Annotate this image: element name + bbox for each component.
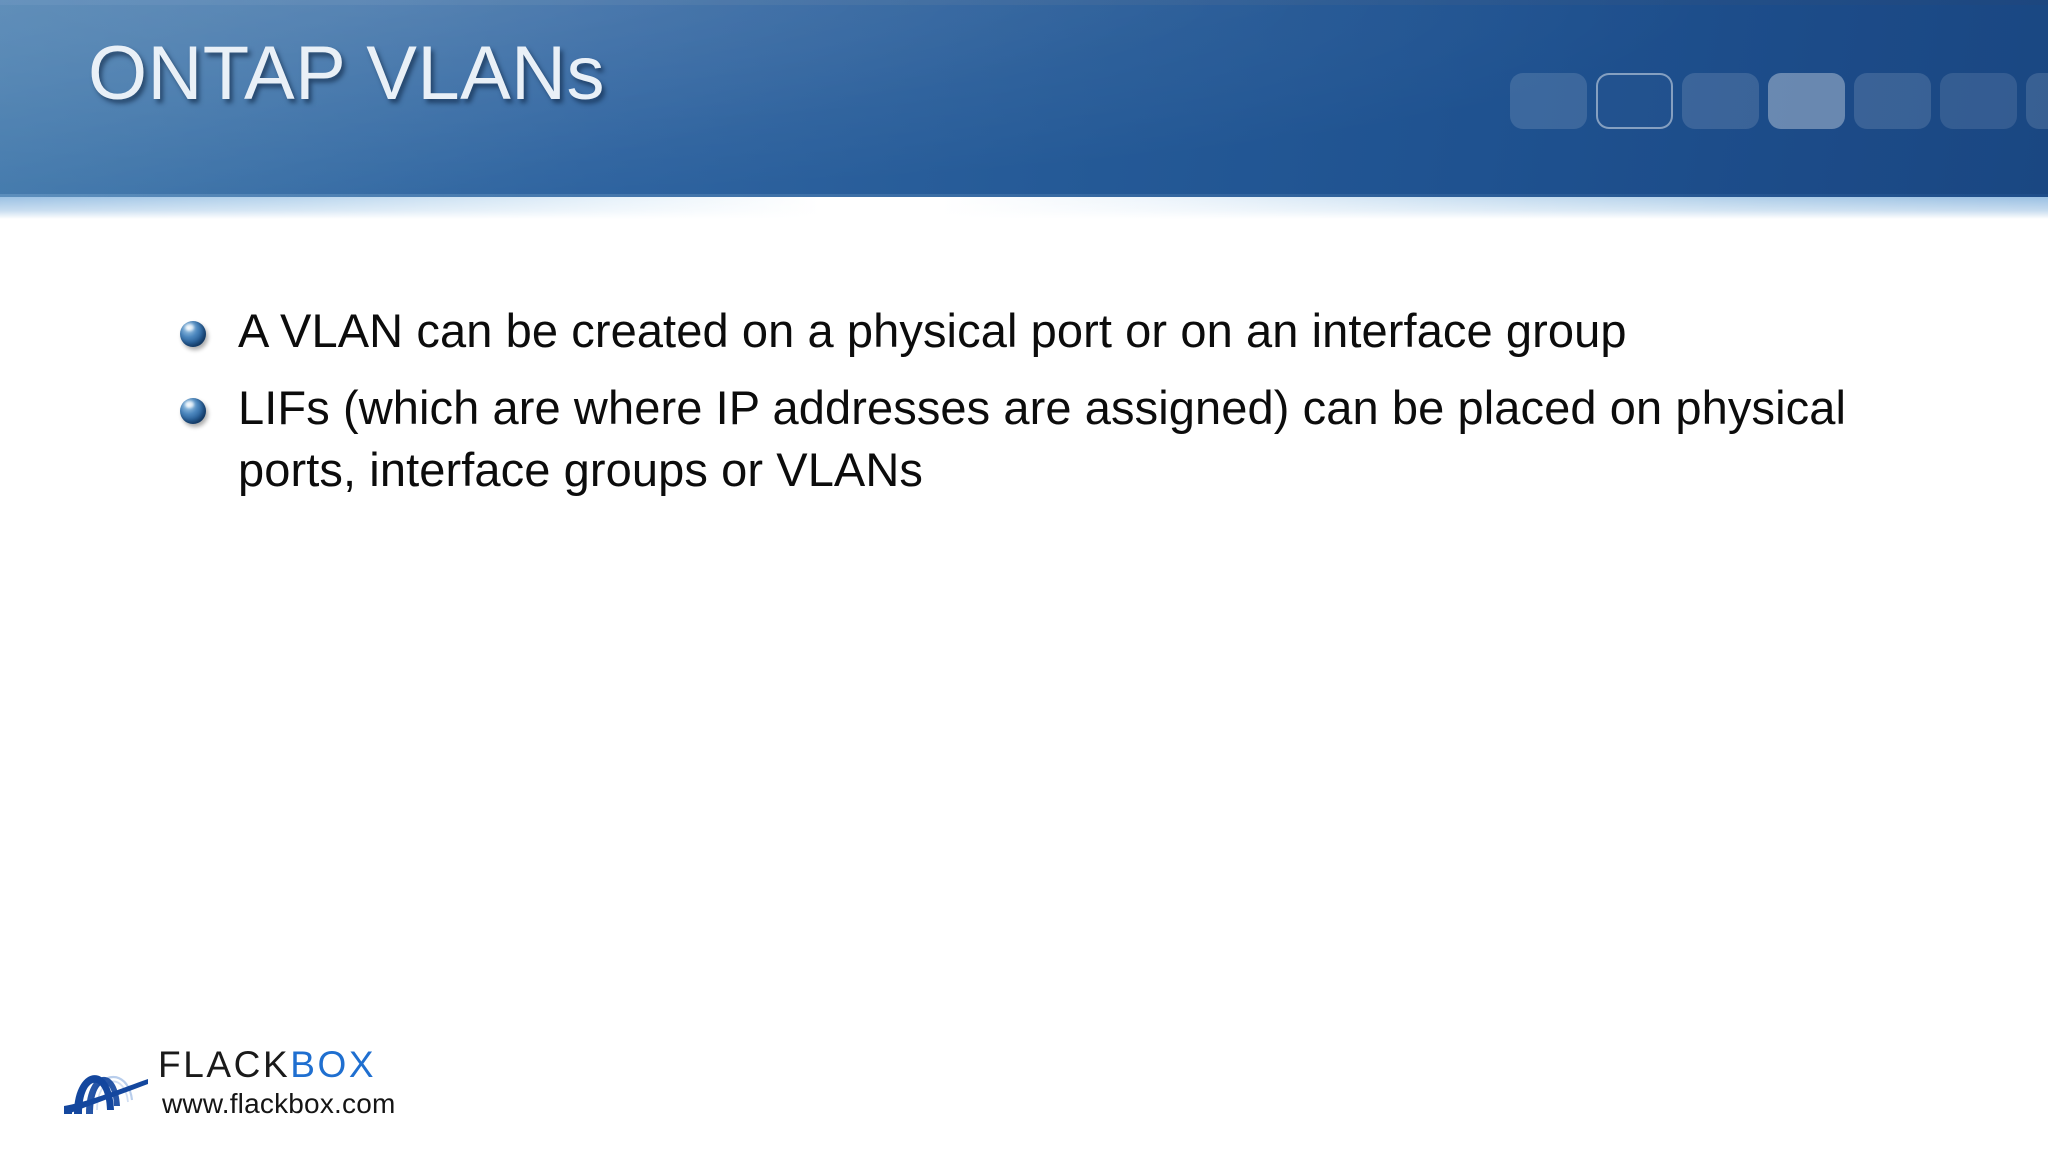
blue-sphere-bullet-icon <box>180 398 206 424</box>
deco-square-7 <box>2026 73 2048 129</box>
flackbox-logo: FLACKBOX www.flackbox.com <box>62 1040 402 1138</box>
header-reflection-fade <box>0 197 2048 219</box>
bullet-text-2: LIFs (which are where IP addresses are a… <box>238 377 1900 502</box>
header-top-edge <box>0 0 2048 5</box>
logo-url: www.flackbox.com <box>162 1090 396 1118</box>
deco-square-6 <box>1940 73 2017 129</box>
deco-square-2 <box>1596 73 1673 129</box>
slide-body: A VLAN can be created on a physical port… <box>0 219 2048 1152</box>
slide-root: ONTAP VLANs A VLAN can be created on a p… <box>0 0 2048 1152</box>
page-title: ONTAP VLANs <box>88 36 605 112</box>
logo-wordmark: FLACKBOX <box>158 1046 376 1083</box>
header-decorative-squares <box>1510 73 2048 129</box>
logo-word-box: BOX <box>290 1044 376 1085</box>
bullet-list: A VLAN can be created on a physical port… <box>180 300 1900 516</box>
bridge-icon <box>62 1044 152 1118</box>
logo-word-flack: FLACK <box>158 1044 290 1085</box>
bullet-text-1: A VLAN can be created on a physical port… <box>238 300 1627 363</box>
deco-square-3 <box>1682 73 1759 129</box>
slide-header-banner: ONTAP VLANs <box>0 0 2048 197</box>
deco-square-1 <box>1510 73 1587 129</box>
blue-sphere-bullet-icon <box>180 321 206 347</box>
deco-square-4 <box>1768 73 1845 129</box>
list-item: A VLAN can be created on a physical port… <box>180 300 1900 363</box>
deco-square-5 <box>1854 73 1931 129</box>
list-item: LIFs (which are where IP addresses are a… <box>180 377 1900 502</box>
